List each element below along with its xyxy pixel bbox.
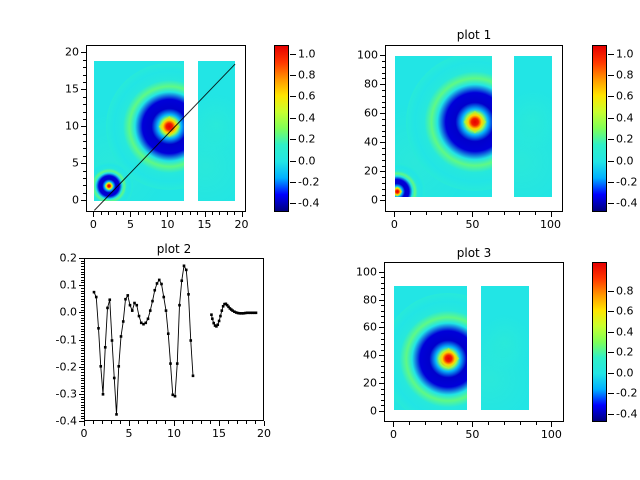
panel-bottom-right-colorbar-ticklabel: 0.8 [616,284,634,297]
background-ripple [481,286,528,411]
panel-bottom-right-ytick-minor [381,377,384,378]
panel-bottom-right-ytick-minor [381,366,384,367]
panel-bottom-right-colorbar-tick [608,332,614,333]
panel-bottom-right-colorbar-ticklabel: 0.2 [616,346,634,359]
panel-bottom-right-colorbar-ticklabel: -0.4 [616,407,637,420]
panel-bottom-right-yticklabel: 80 [322,293,377,306]
panel-bottom-right-ytick-major [379,327,384,328]
panel-bottom-right-xticklabel: 50 [465,428,479,441]
panel-bottom-right-yticklabel: 0 [322,404,377,417]
ripple-peak-1 [394,293,467,410]
panel-bottom-right-colorbar-tick [608,414,614,415]
panel-bottom-right-ytick-minor [381,311,384,312]
panel-bottom-right-ytick-minor [381,305,384,306]
panel-bottom-right-ytick-major [379,411,384,412]
panel-bottom-right-xtick-major [472,422,473,427]
panel-bottom-right-ytick-major [379,272,384,273]
panel-bottom-right-xtick-minor [520,422,521,425]
panel-bottom-right-title: plot 3 [414,246,534,260]
panel-bottom-right-ytick-minor [381,400,384,401]
panel-bottom-right-ytick-minor [381,333,384,334]
block-right [481,286,528,411]
panel-bottom-right-xtick-major [393,422,394,427]
figure-canvas: 05101520051015201.00.80.60.40.20.0-0.2-0… [0,0,640,480]
panel-bottom-right-colorbar-ticklabel: 0.4 [616,325,634,338]
panel-bottom-right-colorbar-tick [608,352,614,353]
panel-bottom-right-ytick-minor [381,316,384,317]
panel-bottom-right-colorbar-ticklabel: 0.0 [616,366,634,379]
panel-bottom-right-colorbar-ticklabel: 0.6 [616,305,634,318]
panel-bottom-right-ytick-major [379,383,384,384]
panel-bottom-right-ytick-major [379,355,384,356]
panel-bottom-right-colorbar-tick [608,291,614,292]
panel-bottom-right-yticklabel: 20 [322,377,377,390]
panel-bottom-right-xtick-minor [536,422,537,425]
panel-bottom-right-xticklabel: 0 [390,428,397,441]
panel-bottom-right-colorbar-ticklabel: -0.2 [616,387,637,400]
panel-bottom-right-ytick-minor [381,389,384,390]
panel-bottom-right-xtick-minor [409,422,410,425]
panel-bottom-right-ytick-minor [381,277,384,278]
panel-bottom-right-colorbar [592,262,607,422]
panel-bottom-right-ytick-minor [381,350,384,351]
panel-bottom-right-ytick-minor [381,344,384,345]
panel-bottom-right-yticklabel: 100 [322,265,377,278]
panel-bottom-right-ytick-minor [381,361,384,362]
panel-bottom-right-xtick-minor [504,422,505,425]
panel-bottom-right-colorbar-gradient [593,263,606,421]
panel-bottom-right-ytick-minor [381,283,384,284]
panel-bottom-right-colorbar-tick [608,311,614,312]
panel-bottom-right-yticklabel: 40 [322,349,377,362]
panel-bottom-right-ytick-minor [381,322,384,323]
panel-bottom-right-ytick-minor [381,288,384,289]
panel-bottom-right-colorbar-tick [608,373,614,374]
panel-bottom-right-colorbar-tick [608,393,614,394]
panel-bottom-right-ytick-minor [381,405,384,406]
panel-bottom-right-xticklabel: 100 [541,428,562,441]
panel-bottom-right-xtick-minor [441,422,442,425]
panel-bottom-right-xtick-minor [457,422,458,425]
panel-bottom-right-xtick-minor [488,422,489,425]
panel-bottom-right-axes [384,262,564,422]
panel-bottom-right-yticklabel: 60 [322,321,377,334]
panel-bottom-right-ytick-minor [381,372,384,373]
panel-bottom-right-xtick-major [551,422,552,427]
panel-bottom-right-ytick-major [379,300,384,301]
panel-bottom-right: plot 30501000204060801000.80.60.40.20.0-… [0,0,640,480]
panel-bottom-right-ytick-minor [381,339,384,340]
panel-bottom-right-ytick-minor [381,294,384,295]
panel-bottom-right-xtick-minor [425,422,426,425]
panel-bottom-right-ytick-minor [381,394,384,395]
block-left [394,286,467,411]
